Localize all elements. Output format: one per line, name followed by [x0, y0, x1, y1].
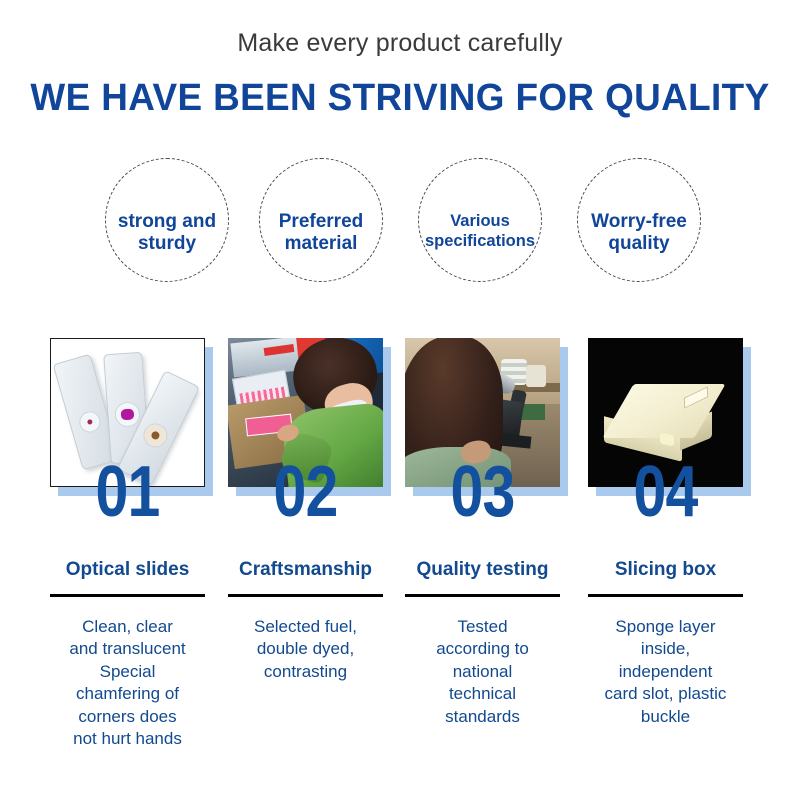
feature-circle-label: Worry-free quality [578, 211, 700, 255]
title-divider [50, 594, 205, 597]
product-description: Selected fuel, double dyed, contrasting [222, 616, 389, 683]
feature-circle-list: strong and sturdy Preferred material Var… [0, 158, 800, 288]
product-card-optical-slides: 01 Optical slides Clean, clear and trans… [50, 338, 205, 487]
page-subtitle: Make every product carefully [0, 31, 800, 56]
product-number: 04 [602, 456, 729, 528]
product-card-quality-testing: 03 Quality testing Tested according to n… [405, 338, 560, 487]
feature-circle-worry-free-quality: Worry-free quality [577, 158, 701, 282]
product-description: Sponge layer inside, independent card sl… [582, 616, 749, 728]
product-number: 02 [242, 456, 369, 528]
product-card-slicing-box: 04 Slicing box Sponge layer inside, inde… [588, 338, 743, 487]
product-description: Clean, clear and translucent Special cha… [44, 616, 211, 751]
product-title: Optical slides [46, 560, 209, 579]
feature-circle-various-specifications: Various specifications [418, 158, 542, 282]
product-card-craftsmanship: 02 Craftsmanship Selected fuel, double d… [228, 338, 383, 487]
product-description: Tested according to national technical s… [399, 616, 566, 728]
page-header: Make every product carefully WE HAVE BEE… [0, 0, 800, 117]
title-divider [405, 594, 560, 597]
product-number: 01 [64, 456, 191, 528]
feature-circle-strong-and-sturdy: strong and sturdy [105, 158, 229, 282]
title-divider [228, 594, 383, 597]
page-title: WE HAVE BEEN STRIVING FOR QUALITY [12, 79, 788, 117]
product-title: Slicing box [584, 560, 747, 579]
feature-circle-preferred-material: Preferred material [259, 158, 383, 282]
feature-circle-label: Various specifications [419, 212, 541, 251]
product-number: 03 [419, 456, 546, 528]
feature-circle-label: Preferred material [260, 211, 382, 255]
feature-circle-label: strong and sturdy [106, 211, 228, 255]
product-title: Craftsmanship [224, 560, 387, 579]
title-divider [588, 594, 743, 597]
product-title: Quality testing [401, 560, 564, 579]
